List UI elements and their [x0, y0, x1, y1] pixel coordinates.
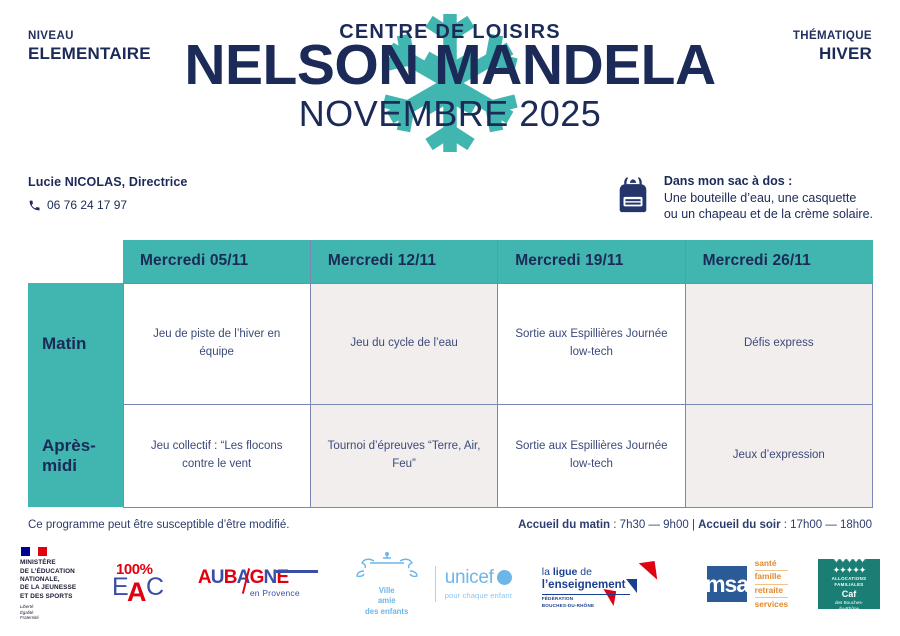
- ligue-line1-c: de: [577, 566, 592, 578]
- phone-icon: [28, 199, 41, 212]
- cell-matin-day-3: Sortie aux Espillières Journée low-tech: [498, 283, 685, 404]
- msa-logo: msa santé famille retraite services: [707, 557, 789, 611]
- table-corner-cell: [28, 240, 123, 283]
- ligue-enseignement-logo: la ligue de l’enseignement FÉDÉRATION BO…: [542, 560, 677, 608]
- cell-apres-midi-day-4: Jeux d’expression: [685, 404, 872, 507]
- unicef-tagline: pour chaque enfant: [445, 592, 512, 600]
- caf-allocations-line-2: FAMILIALES: [832, 582, 867, 588]
- ligue-sub-1: FÉDÉRATION: [542, 596, 594, 603]
- director-phone: 06 76 24 17 97: [28, 198, 188, 212]
- aubagne-letter-3: B: [224, 567, 237, 588]
- morning-label: Accueil du matin: [518, 519, 610, 531]
- cell-apres-midi-day-3: Sortie aux Espillières Journée low-tech: [498, 404, 685, 507]
- vae-line-3: des enfants: [348, 607, 426, 617]
- caf-stars-icon-2: ✦✦✦✦✦: [833, 566, 866, 575]
- msa-mark: msa: [707, 566, 747, 602]
- 100-eac-logo: 100% E A C: [106, 561, 168, 607]
- director-block: Lucie NICOLAS, Directrice 06 76 24 17 97: [28, 175, 188, 212]
- eac-letter-c: C: [146, 575, 164, 600]
- title-block: CENTRE DE LOISIRS NELSON MANDELA NOVEMBR…: [0, 22, 900, 132]
- ligue-triangle-blue: [626, 579, 637, 593]
- caf-logo: ✦✦✦✦✦ ✦✦✦✦✦ ALLOCATIONS FAMILIALES Caf d…: [818, 559, 880, 609]
- aubagne-letter-6: N: [264, 567, 277, 588]
- caf-dept-line-1: des Bouches-: [835, 600, 863, 606]
- caf-stars-icon: ✦✦✦✦✦: [833, 556, 866, 565]
- row-label-apres-midi: Après-midi: [28, 404, 123, 507]
- ville-amie-des-enfants-mark: Ville amie des enfants: [348, 551, 426, 616]
- ligue-rule: [542, 594, 630, 595]
- cell-matin-day-2: Jeu du cycle de l’eau: [310, 283, 497, 404]
- column-header-day-2: Mercredi 12/11: [310, 240, 497, 283]
- column-header-day-4: Mercredi 26/11: [685, 240, 872, 283]
- ministere-line-4: DE LA JEUNESSE: [20, 584, 76, 592]
- caf-dept-line-2: du-Rhône: [835, 606, 863, 612]
- title-subtitle: NOVEMBRE 2025: [0, 96, 900, 132]
- aubagne-letter-2: U: [211, 567, 224, 588]
- backpack-icon: [614, 175, 652, 220]
- ligue-line1-a: la: [542, 566, 553, 578]
- row-label-matin: Matin: [28, 283, 123, 404]
- ligue-line1-b: ligue: [553, 566, 578, 578]
- table-header-row: Mercredi 05/11 Mercredi 12/11 Mercredi 1…: [28, 240, 873, 283]
- eac-letter-a: A: [127, 579, 147, 606]
- column-header-day-1: Mercredi 05/11: [123, 240, 310, 283]
- unicef-ville-amie-des-enfants-logo: Ville amie des enfants unicef pour chaqu…: [348, 551, 512, 616]
- table-row-apres-midi: Après-midi Jeu collectif : “Les flocons …: [28, 404, 873, 507]
- cell-apres-midi-day-1: Jeu collectif : “Les flocons contre le v…: [123, 404, 310, 507]
- aubagne-tagline: en Provence: [250, 588, 300, 598]
- caf-wordmark: Caf: [842, 590, 857, 599]
- ligue-triangle-red-1: [639, 561, 657, 582]
- evening-value: : 17h00 — 18h00: [781, 519, 872, 531]
- msa-word-1: santé: [755, 557, 789, 571]
- ligue-triangle-red-2: [601, 589, 616, 606]
- backpack-line-1: Une bouteille d’eau, une casquette: [664, 190, 873, 207]
- cell-matin-day-4: Défis express: [685, 283, 872, 404]
- unicef-globe-icon: [497, 570, 512, 585]
- morning-value: : 7h30 — 9h00: [610, 519, 692, 531]
- director-name: Lucie NICOLAS, Directrice: [28, 175, 188, 189]
- ministere-line-1: MINISTÈRE: [20, 559, 76, 567]
- aubagne-letter-5: G: [250, 567, 264, 588]
- vae-line-1: Ville: [348, 586, 426, 596]
- table-row-matin: Matin Jeu de piste de l’hiver en équipe …: [28, 283, 873, 404]
- column-header-day-3: Mercredi 19/11: [498, 240, 685, 283]
- backpack-block: Dans mon sac à dos : Une bouteille d’eau…: [614, 173, 873, 223]
- partner-logo-strip: MINISTÈRE DE L’ÉDUCATION NATIONALE, DE L…: [20, 552, 880, 616]
- info-strip: Lucie NICOLAS, Directrice 06 76 24 17 97: [0, 165, 900, 227]
- french-flag-icon: [21, 547, 47, 556]
- ministere-line-3: NATIONALE,: [20, 576, 76, 584]
- backpack-title: Dans mon sac à dos :: [664, 173, 873, 190]
- ministere-education-logo: MINISTÈRE DE L’ÉDUCATION NATIONALE, DE L…: [20, 547, 76, 621]
- cell-matin-day-1: Jeu de piste de l’hiver en équipe: [123, 283, 310, 404]
- page-title: NELSON MANDELA: [0, 38, 900, 94]
- aubagne-letter-1: A: [198, 567, 211, 588]
- opening-hours: Accueil du matin : 7h30 — 9h00 | Accueil…: [518, 519, 872, 531]
- disclaimer-text: Ce programme peut être susceptible d’êtr…: [28, 519, 289, 531]
- unicef-wordmark: unicef: [445, 568, 494, 587]
- evening-label: Accueil du soir: [698, 519, 780, 531]
- planning-table-wrapper: Mercredi 05/11 Mercredi 12/11 Mercredi 1…: [28, 240, 873, 508]
- unicef-divider: [435, 566, 436, 602]
- ministere-line-5: ET DES SPORTS: [20, 593, 76, 601]
- msa-word-2: famille: [755, 571, 789, 585]
- vae-line-2: amie: [348, 596, 426, 606]
- cell-apres-midi-day-2: Tournoi d’épreuves “Terre, Air, Feu”: [310, 404, 497, 507]
- footer-notes: Ce programme peut être susceptible d’êtr…: [28, 519, 872, 531]
- ministere-line-2: DE L’ÉDUCATION: [20, 568, 76, 576]
- msa-word-3: retraite: [755, 585, 789, 599]
- aubagne-logo: AUBAGNE en Provence: [198, 564, 318, 604]
- planning-table: Mercredi 05/11 Mercredi 12/11 Mercredi 1…: [28, 240, 873, 508]
- phone-number: 06 76 24 17 97: [47, 198, 127, 212]
- ligue-sub-2: BOUCHES-DU-RHÔNE: [542, 603, 594, 610]
- page-header: NIVEAU ELEMENTAIRE THÉMATIQUE HIVER CENT…: [0, 0, 900, 165]
- msa-word-4: services: [755, 598, 789, 611]
- aubagne-bar-mark: [276, 570, 318, 573]
- backpack-line-2: ou un chapeau et de la crème solaire.: [664, 206, 873, 223]
- ligue-line2: l’enseignement: [542, 579, 626, 591]
- devise-line-3: Fraternité: [20, 615, 39, 621]
- ville-amie-crown-icon: [350, 551, 424, 581]
